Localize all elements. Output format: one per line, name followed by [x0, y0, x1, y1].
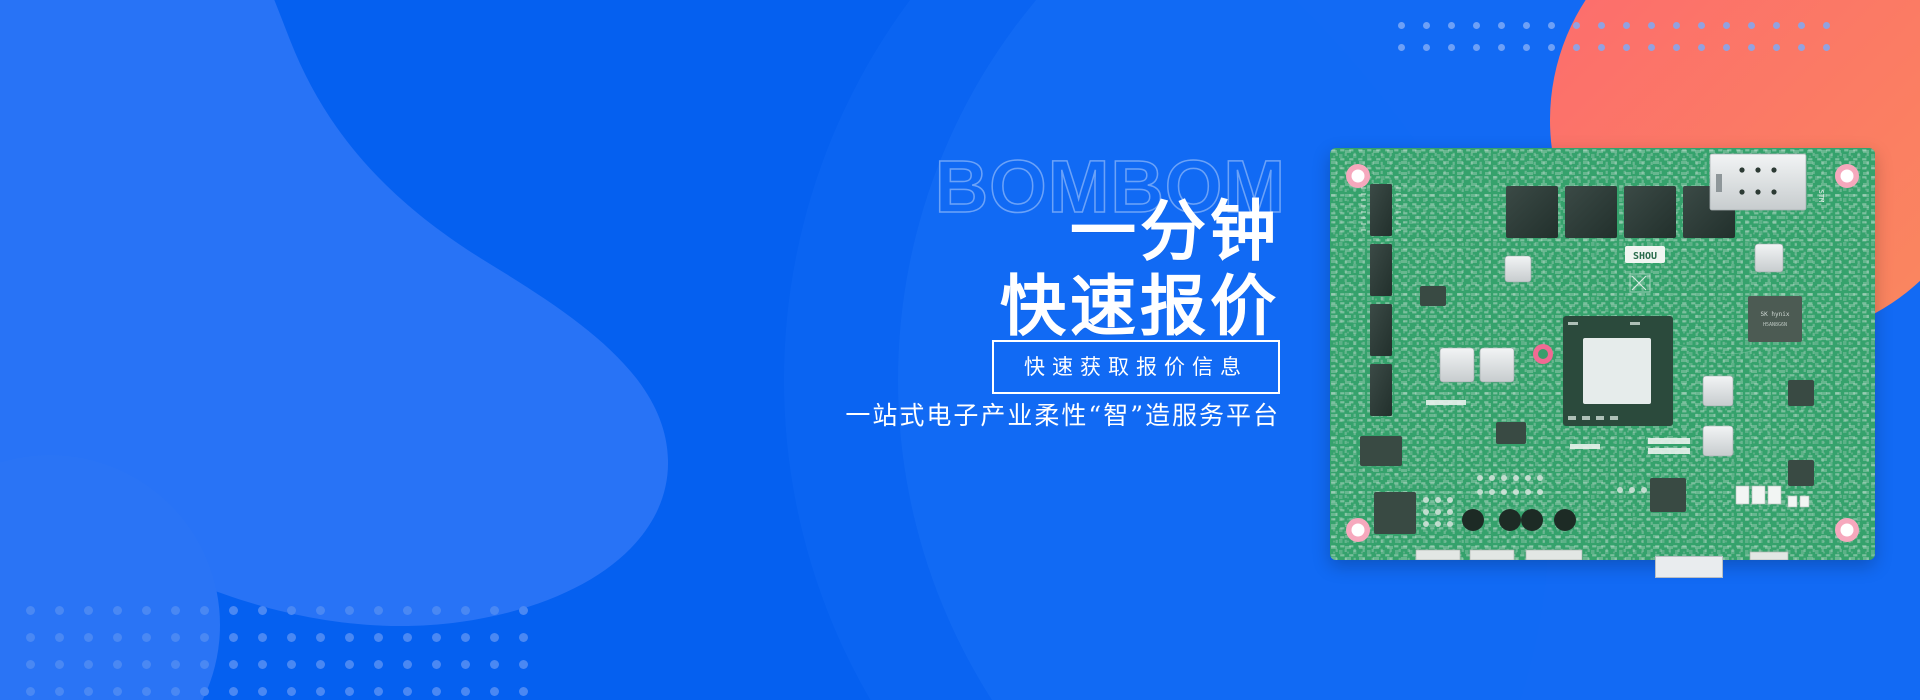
page-title: 一分钟 快速报价 [1000, 198, 1280, 341]
dot-grid-bottom-left [26, 606, 548, 700]
dot-grid-top-right [1398, 22, 1848, 66]
pcb-bottom-connector-tab [1655, 556, 1723, 578]
banner-text-block: BOMBOM 一分钟 快速报价 快速获取报价信息 一站式电子产业柔性“智”造服务… [660, 150, 1280, 530]
svg-text:STM: STM [1817, 190, 1825, 203]
svg-text:H5AN8G6N: H5AN8G6N [1763, 322, 1787, 328]
banner-subtitle: 一站式电子产业柔性“智”造服务平台 [845, 396, 1280, 432]
cta-badge-label: 快速获取报价信息 [1024, 355, 1248, 379]
headline-line-2: 快速报价 [1000, 273, 1280, 342]
headline-line-1: 一分钟 [1000, 198, 1280, 267]
svg-text:SK hynix: SK hynix [1761, 311, 1790, 318]
cta-badge[interactable]: 快速获取报价信息 [992, 340, 1280, 394]
svg-text:SHOU: SHOU [1633, 251, 1657, 262]
promo-banner: SK hynix H5AN8G6N SHOU [0, 0, 1920, 700]
pcb-circuit-board-image: SK hynix H5AN8G6N SHOU [1330, 148, 1875, 560]
